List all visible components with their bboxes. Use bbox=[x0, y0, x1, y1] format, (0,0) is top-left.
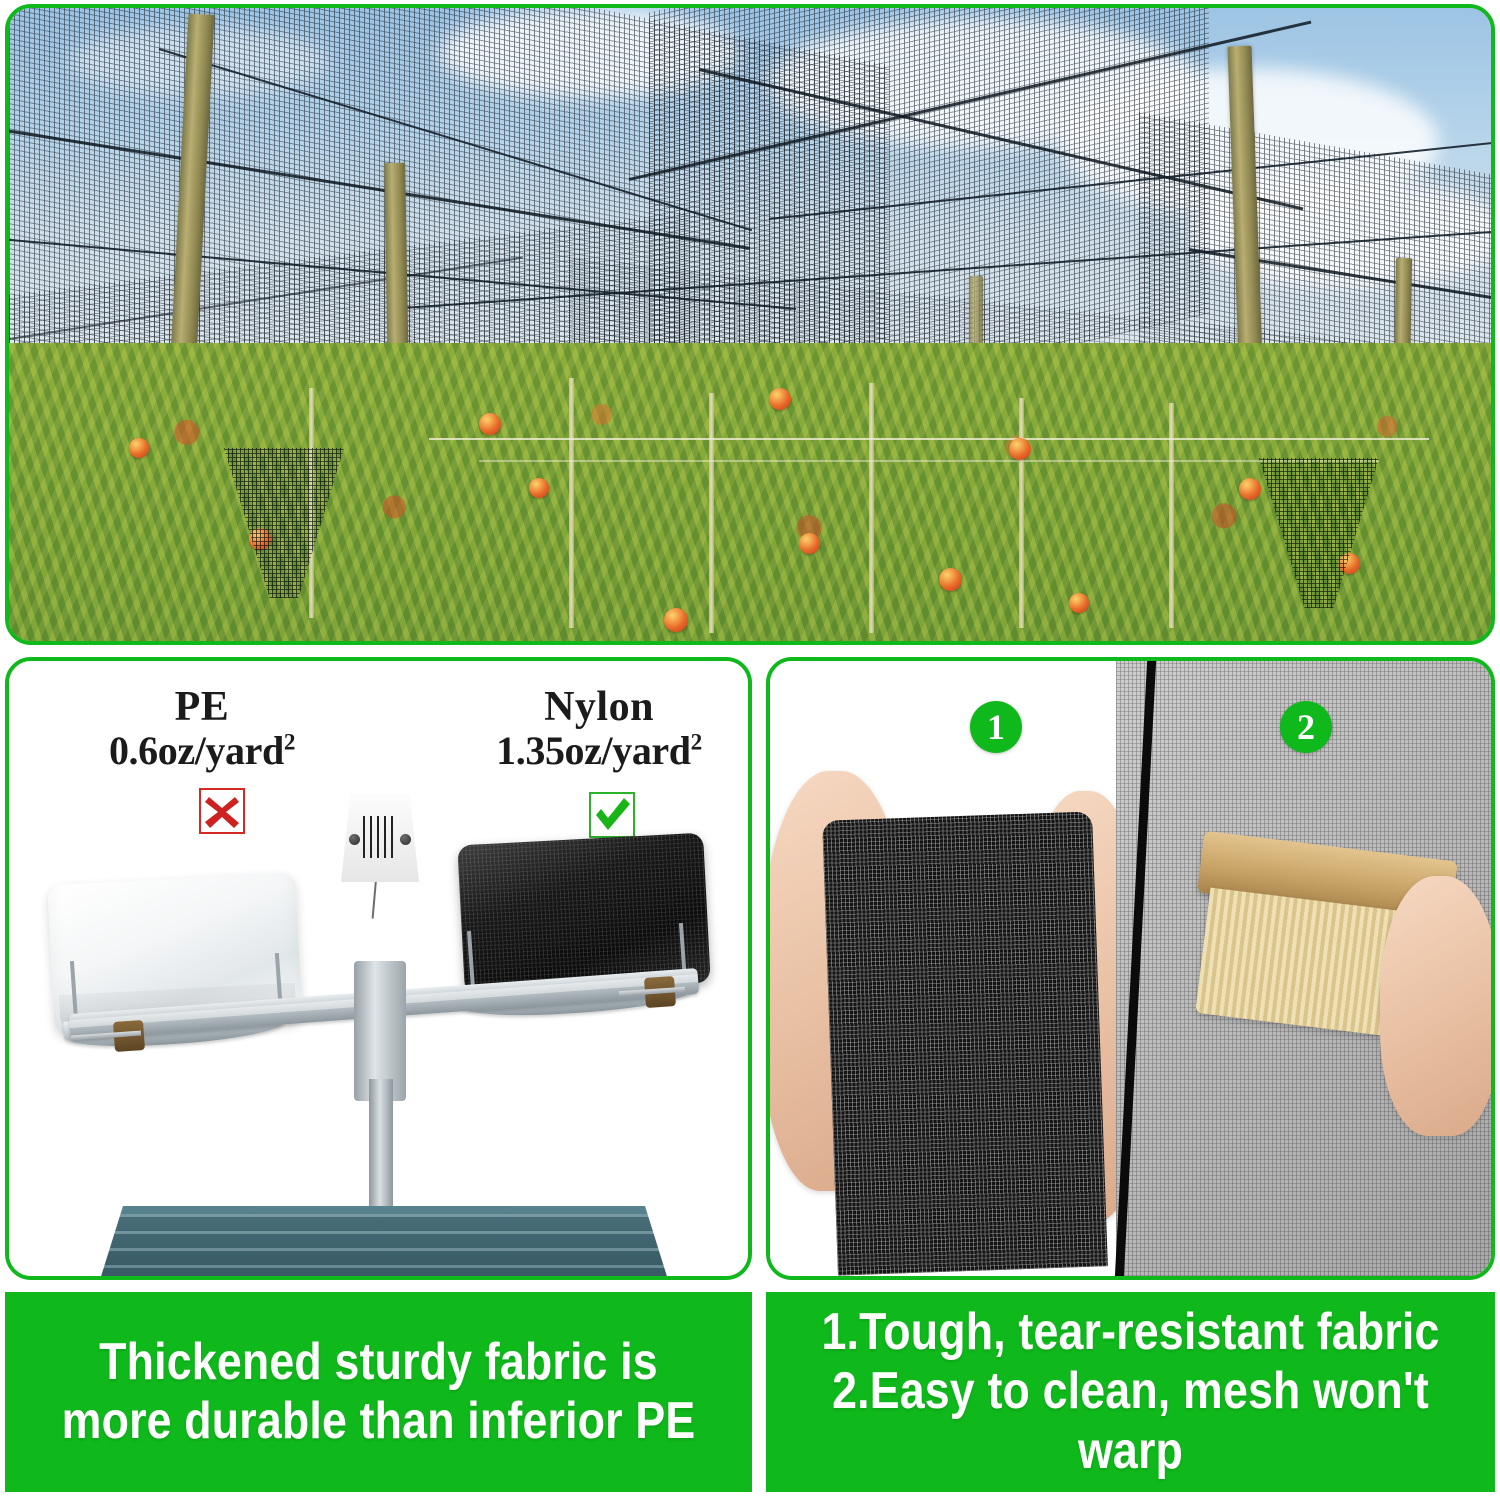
left-caption-bar: Thickened sturdy fabric is more durable … bbox=[5, 1292, 752, 1492]
hero-image-content bbox=[9, 8, 1491, 641]
tree-stake bbox=[569, 378, 574, 628]
left-caption-text: Thickened sturdy fabric is more durable … bbox=[57, 1333, 699, 1452]
pe-material-name: PE bbox=[37, 686, 367, 730]
dial-tick-marks bbox=[363, 816, 397, 858]
red-x-icon bbox=[199, 788, 245, 834]
dial-screw bbox=[349, 834, 360, 845]
balance-scale-illustration: PE 0.6oz/yard2 Nylon 1.35oz/yard2 bbox=[9, 661, 748, 1276]
apple bbox=[1239, 478, 1261, 500]
nylon-label: Nylon 1.35oz/yard2 bbox=[429, 686, 752, 771]
hand bbox=[1380, 876, 1491, 1136]
tree-stake bbox=[1169, 403, 1174, 628]
fabric-weight-comparison-panel: PE 0.6oz/yard2 Nylon 1.35oz/yard2 bbox=[5, 657, 752, 1280]
apple bbox=[799, 533, 820, 554]
tree-stake bbox=[869, 383, 874, 633]
split-feature-photo: 1 2 bbox=[770, 661, 1491, 1276]
right-caption-line-2: 2.Easy to clean, mesh won't warp bbox=[832, 1362, 1429, 1479]
tree-stake bbox=[709, 393, 714, 633]
step-badge-1: 1 bbox=[970, 701, 1022, 753]
tear-resistance-photo bbox=[770, 661, 1145, 1276]
right-caption-bar: 1.Tough, tear-resistant fabric 2.Easy to… bbox=[766, 1292, 1495, 1492]
base-ridges bbox=[94, 1214, 674, 1280]
scale-base bbox=[94, 1206, 674, 1280]
apple bbox=[664, 608, 688, 632]
apple bbox=[939, 568, 962, 591]
right-caption-line-1: 1.Tough, tear-resistant fabric bbox=[821, 1303, 1439, 1361]
nylon-material-name: Nylon bbox=[429, 686, 752, 730]
trellis-wire bbox=[479, 460, 1379, 462]
apple bbox=[529, 478, 549, 498]
apple bbox=[129, 438, 149, 458]
black-mesh-fabric bbox=[822, 811, 1108, 1275]
trellis-wire bbox=[429, 438, 1429, 440]
infographic-page: PE 0.6oz/yard2 Nylon 1.35oz/yard2 bbox=[0, 0, 1500, 1498]
fabric-feature-photo-panel: 1 2 bbox=[766, 657, 1495, 1280]
apple bbox=[1009, 438, 1031, 460]
pe-weight: 0.6oz/yard2 bbox=[37, 730, 367, 772]
green-check-icon bbox=[589, 792, 635, 838]
nylon-weight: 1.35oz/yard2 bbox=[429, 730, 752, 772]
step-badge-2: 2 bbox=[1280, 701, 1332, 753]
tree-stake bbox=[1019, 398, 1024, 628]
pe-label: PE 0.6oz/yard2 bbox=[37, 686, 367, 771]
hero-orchard-photo bbox=[5, 4, 1495, 645]
apple bbox=[769, 388, 791, 410]
right-caption-text: 1.Tough, tear-resistant fabric 2.Easy to… bbox=[817, 1303, 1444, 1481]
apple bbox=[1069, 593, 1089, 613]
apple-orchard-foliage bbox=[9, 343, 1491, 641]
dial-screw bbox=[400, 834, 411, 845]
apple bbox=[479, 413, 501, 435]
scale-dial bbox=[341, 794, 419, 882]
